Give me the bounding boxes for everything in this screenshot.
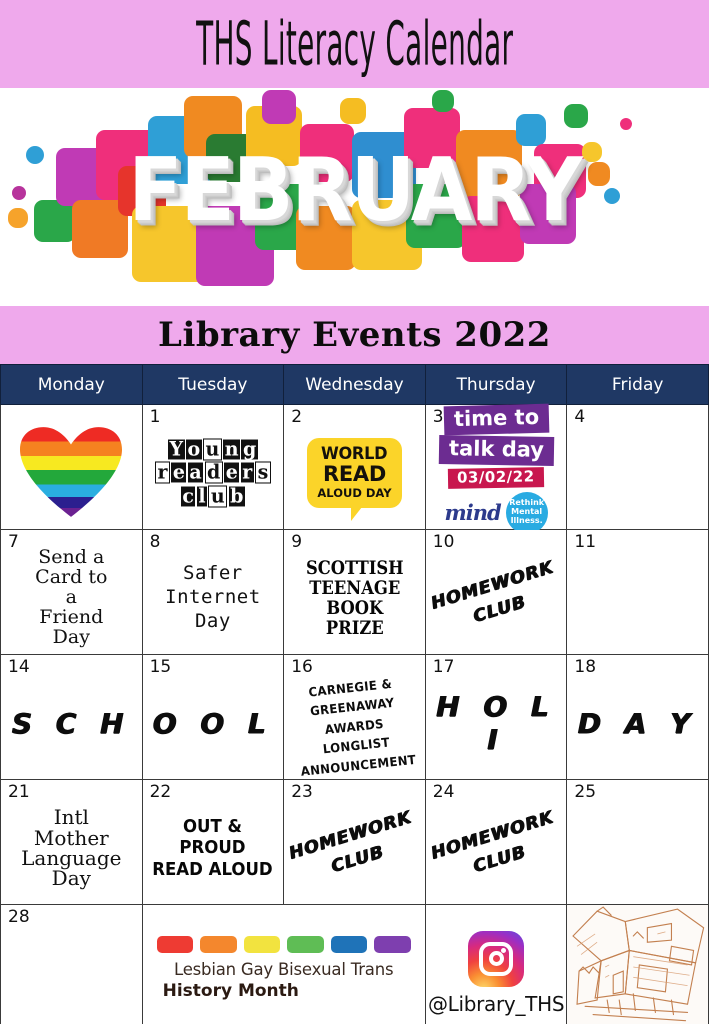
day-cell[interactable]: 8 Safer Internet Day bbox=[142, 530, 284, 655]
ransom-letter: e bbox=[171, 463, 186, 483]
day-cell[interactable]: 4 bbox=[567, 405, 709, 530]
pride-color-bar bbox=[157, 936, 194, 953]
time-to-talk-day-badge: time to talk day 03/02/22 mind Rethink M… bbox=[430, 405, 563, 534]
day-cell[interactable]: 3 time to talk day 03/02/22 mind Rethink… bbox=[425, 405, 567, 530]
rainbow-heart-icon bbox=[5, 421, 138, 525]
lgbt-history-month-logo: Lesbian Gay Bisexual Trans History Month bbox=[147, 936, 421, 1001]
day-header-thursday: Thursday bbox=[425, 365, 567, 405]
calendar-week-row: 28 Lesbian Gay Bisexual Trans History Mo… bbox=[1, 905, 709, 1024]
day-cell[interactable]: 17 H O L I bbox=[425, 655, 567, 780]
banner-month-label: FEBRUARY bbox=[0, 141, 709, 242]
pride-color-bar bbox=[287, 936, 324, 953]
ransom-letter: b bbox=[229, 486, 245, 506]
poster-title-bar: THS Literacy Calendar bbox=[0, 0, 709, 88]
day-cell[interactable]: 21 Intl Mother Language Day bbox=[1, 780, 143, 905]
day-cell[interactable]: 14 S C H bbox=[1, 655, 143, 780]
calendar-poster: THS Literacy Calendar FEBRUARY Library E… bbox=[0, 0, 709, 1024]
day-cell[interactable]: 22 OUT & PROUD READ ALOUD bbox=[142, 780, 284, 905]
instagram-icon[interactable] bbox=[468, 931, 524, 987]
event-label: HOMEWORK CLUB bbox=[286, 806, 422, 890]
ransom-letter: g bbox=[241, 439, 257, 459]
ransom-letter: c bbox=[181, 486, 196, 506]
ransom-letter: r bbox=[241, 463, 254, 483]
lgbt-line2: History Month bbox=[163, 981, 411, 1001]
ransom-letter: r bbox=[155, 462, 170, 484]
day-header-friday: Friday bbox=[567, 365, 709, 405]
calendar-week-row: 21 Intl Mother Language Day 22 OUT & PRO… bbox=[1, 780, 709, 905]
ttt-line2: talk day bbox=[438, 434, 553, 465]
rethink-mental-illness-logo: Rethink Mental Illness. bbox=[506, 492, 548, 534]
event-label: SCOTTISH TEENAGE BOOK PRIZE bbox=[306, 558, 404, 639]
day-cell[interactable]: 18 D A Y bbox=[567, 655, 709, 780]
wrad-line1: WORLD bbox=[319, 446, 389, 464]
pride-color-bars bbox=[157, 936, 411, 953]
ransom-letter: u bbox=[203, 438, 222, 460]
day-cell[interactable]: 24 HOMEWORK CLUB bbox=[425, 780, 567, 905]
event-label: O O L bbox=[153, 707, 273, 740]
event-label: HOMEWORK CLUB bbox=[428, 806, 564, 890]
pride-color-bar bbox=[374, 936, 411, 953]
lgbt-line1: Lesbian Gay Bisexual Trans bbox=[157, 960, 411, 979]
ransom-letter: e bbox=[224, 463, 239, 483]
ransom-letter: n bbox=[223, 439, 240, 459]
event-label: Safer Internet Day bbox=[165, 562, 261, 633]
instagram-cell[interactable]: @Library_THS bbox=[425, 905, 567, 1024]
ransom-letter: s bbox=[255, 462, 271, 484]
banner-square bbox=[262, 90, 296, 124]
day-number: 28 bbox=[8, 909, 30, 926]
calendar-header-row: Monday Tuesday Wednesday Thursday Friday bbox=[1, 365, 709, 405]
wrad-line2: READ bbox=[317, 463, 391, 485]
day-cell[interactable]: 23 HOMEWORK CLUB bbox=[284, 780, 426, 905]
building-sketch-image bbox=[567, 905, 708, 1024]
pride-color-bar bbox=[200, 936, 237, 953]
calendar-week-row: 1 Youngreadersclub 2 WORLD READ ALOUD DA… bbox=[1, 405, 709, 530]
day-header-tuesday: Tuesday bbox=[142, 365, 284, 405]
day-cell[interactable]: 16 CARNEGIE & GREENAWAY AWARDS LONGLIST … bbox=[284, 655, 426, 780]
day-number: 11 bbox=[574, 534, 596, 551]
event-label: HOMEWORK CLUB bbox=[428, 556, 564, 640]
day-cell[interactable]: 28 bbox=[1, 905, 143, 1024]
calendar-week-row: 14 S C H 15 O O L 16 CARNEGIE & GREENAWA… bbox=[1, 655, 709, 780]
day-cell[interactable]: 9 SCOTTISH TEENAGE BOOK PRIZE bbox=[284, 530, 426, 655]
event-label: D A Y bbox=[578, 707, 698, 740]
calendar-week-row: 7 Send a Card to a Friend Day 8 Safer In… bbox=[1, 530, 709, 655]
day-header-wednesday: Wednesday bbox=[284, 365, 426, 405]
instagram-handle: @Library_THS bbox=[428, 992, 564, 1016]
mind-logo: mind bbox=[445, 502, 501, 523]
event-label: Intl Mother Language Day bbox=[21, 807, 121, 889]
day-cell[interactable]: 2 WORLD READ ALOUD DAY bbox=[284, 405, 426, 530]
ransom-line: Young bbox=[154, 438, 271, 461]
ransom-letter: u bbox=[208, 485, 227, 507]
pride-color-bar bbox=[244, 936, 281, 953]
event-label: OUT & PROUD READ ALOUD bbox=[153, 816, 273, 880]
ransom-letter: l bbox=[197, 486, 207, 506]
ransom-line: club bbox=[154, 485, 271, 508]
ransom-letter: Y bbox=[168, 439, 185, 459]
day-cell[interactable]: 15 O O L bbox=[142, 655, 284, 780]
banner-square bbox=[564, 104, 588, 128]
ttt-line1: time to bbox=[443, 403, 549, 435]
ransom-line: readers bbox=[154, 461, 271, 484]
ttt-date: 03/02/22 bbox=[448, 467, 544, 489]
lgbt-history-month-cell[interactable]: Lesbian Gay Bisexual Trans History Month bbox=[142, 905, 425, 1024]
day-cell[interactable]: 11 bbox=[567, 530, 709, 655]
day-cell[interactable]: 10 HOMEWORK CLUB bbox=[425, 530, 567, 655]
young-readers-club-label: Youngreadersclub bbox=[154, 438, 271, 508]
event-label: Send a Card to a Friend Day bbox=[35, 548, 107, 648]
day-header-monday: Monday bbox=[1, 365, 143, 405]
subtitle-text: Library Events 2022 bbox=[158, 315, 551, 355]
day-cell[interactable]: 1 Youngreadersclub bbox=[142, 405, 284, 530]
banner-square bbox=[620, 118, 632, 130]
ransom-letter: a bbox=[188, 463, 203, 483]
instagram-block[interactable]: @Library_THS bbox=[428, 931, 564, 1016]
banner-square bbox=[340, 98, 366, 124]
day-cell[interactable]: 25 bbox=[567, 780, 709, 905]
event-label: S C H bbox=[12, 707, 131, 740]
banner-square bbox=[432, 90, 454, 112]
calendar-table: Monday Tuesday Wednesday Thursday Friday bbox=[0, 364, 709, 1024]
event-label: CARNEGIE & GREENAWAY AWARDS LONGLIST ANN… bbox=[287, 671, 421, 780]
ransom-letter: d bbox=[205, 462, 223, 484]
ransom-letter: o bbox=[186, 439, 202, 459]
day-cell[interactable] bbox=[1, 405, 143, 530]
subtitle-bar: Library Events 2022 bbox=[0, 306, 709, 364]
world-read-aloud-day-badge: WORLD READ ALOUD DAY bbox=[307, 438, 401, 509]
day-cell[interactable]: 7 Send a Card to a Friend Day bbox=[1, 530, 143, 655]
event-label: H O L I bbox=[430, 690, 563, 756]
page-title: THS Literacy Calendar bbox=[196, 9, 513, 80]
pride-color-bar bbox=[331, 936, 368, 953]
day-number: 4 bbox=[574, 409, 585, 426]
day-number: 25 bbox=[574, 784, 596, 801]
wrad-line3: ALOUD DAY bbox=[317, 487, 391, 499]
february-banner: FEBRUARY bbox=[0, 88, 709, 306]
sketch-cell[interactable] bbox=[567, 905, 709, 1024]
